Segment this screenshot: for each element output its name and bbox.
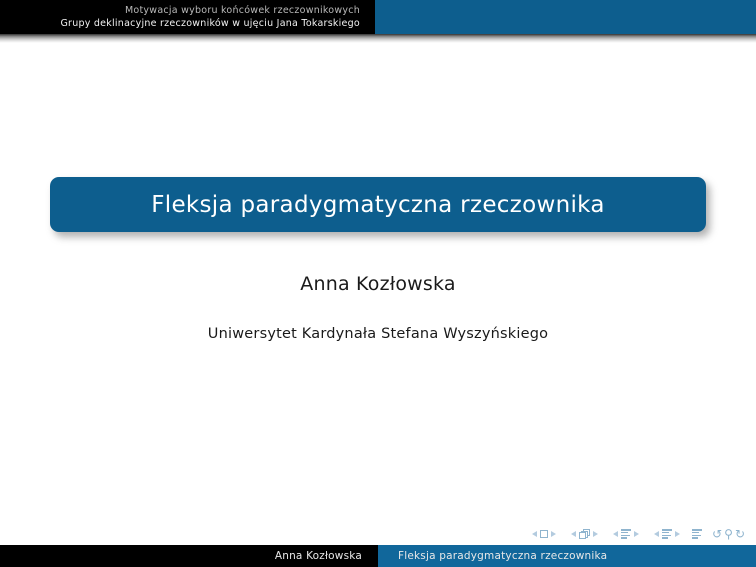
- prev-section-arrow-icon[interactable]: [654, 531, 659, 537]
- nav-group-appendix: [692, 529, 702, 539]
- prev-subsection-arrow-icon[interactable]: [613, 531, 618, 537]
- nav-group-history: ↺ ⚲ ↻: [711, 528, 746, 540]
- slide-footer-bar: Anna Kozłowska Fleksja paradygmatyczna r…: [0, 545, 756, 567]
- appendix-lines-icon[interactable]: [692, 529, 702, 539]
- footer-author-cell: Anna Kozłowska: [0, 545, 378, 567]
- forward-arrow-icon[interactable]: ↻: [735, 528, 745, 540]
- footer-author-text: Anna Kozłowska: [275, 550, 362, 562]
- frame-stack-icon[interactable]: [579, 529, 590, 539]
- prev-frame-arrow-icon[interactable]: [571, 531, 576, 537]
- back-arrow-icon[interactable]: ↺: [712, 528, 722, 540]
- beamer-navigation-symbols: ↺ ⚲ ↻: [529, 526, 746, 542]
- footer-title-cell: Fleksja paradygmatyczna rzeczownika: [378, 545, 756, 567]
- footer-title-text: Fleksja paradygmatyczna rzeczownika: [398, 550, 607, 562]
- prev-slide-arrow-icon[interactable]: [532, 531, 537, 537]
- page-title: Fleksja paradygmatyczna rzeczownika: [151, 192, 605, 218]
- next-slide-arrow-icon[interactable]: [551, 531, 556, 537]
- nav-group-subsection: [610, 529, 642, 539]
- author-name: Anna Kozłowska: [0, 273, 756, 295]
- nav-group-slide: [529, 530, 559, 538]
- header-drop-shadow: [0, 34, 756, 43]
- header-section-title[interactable]: Motywacja wyboru końcówek rzeczownikowyc…: [125, 4, 360, 17]
- search-icon[interactable]: ⚲: [724, 528, 733, 540]
- nav-group-frame: [568, 529, 601, 539]
- header-accent-fill: [375, 0, 756, 34]
- next-frame-arrow-icon[interactable]: [593, 531, 598, 537]
- slide-header-bar: Motywacja wyboru końcówek rzeczownikowyc…: [0, 0, 756, 34]
- title-block: Fleksja paradygmatyczna rzeczownika: [50, 177, 706, 232]
- header-navigation-titles: Motywacja wyboru końcówek rzeczownikowyc…: [0, 0, 375, 34]
- institute-name: Uniwersytet Kardynała Stefana Wyszyńskie…: [0, 326, 756, 342]
- presentation-slide: Motywacja wyboru końcówek rzeczownikowyc…: [0, 0, 756, 567]
- nav-group-section: [651, 529, 683, 539]
- subsection-lines-icon[interactable]: [621, 529, 631, 539]
- title-box: Fleksja paradygmatyczna rzeczownika: [50, 177, 706, 232]
- header-subsection-title[interactable]: Grupy deklinacyjne rzeczowników w ujęciu…: [60, 17, 360, 30]
- next-subsection-arrow-icon[interactable]: [634, 531, 639, 537]
- section-lines-icon[interactable]: [662, 529, 672, 539]
- slide-square-icon[interactable]: [540, 530, 548, 538]
- next-section-arrow-icon[interactable]: [675, 531, 680, 537]
